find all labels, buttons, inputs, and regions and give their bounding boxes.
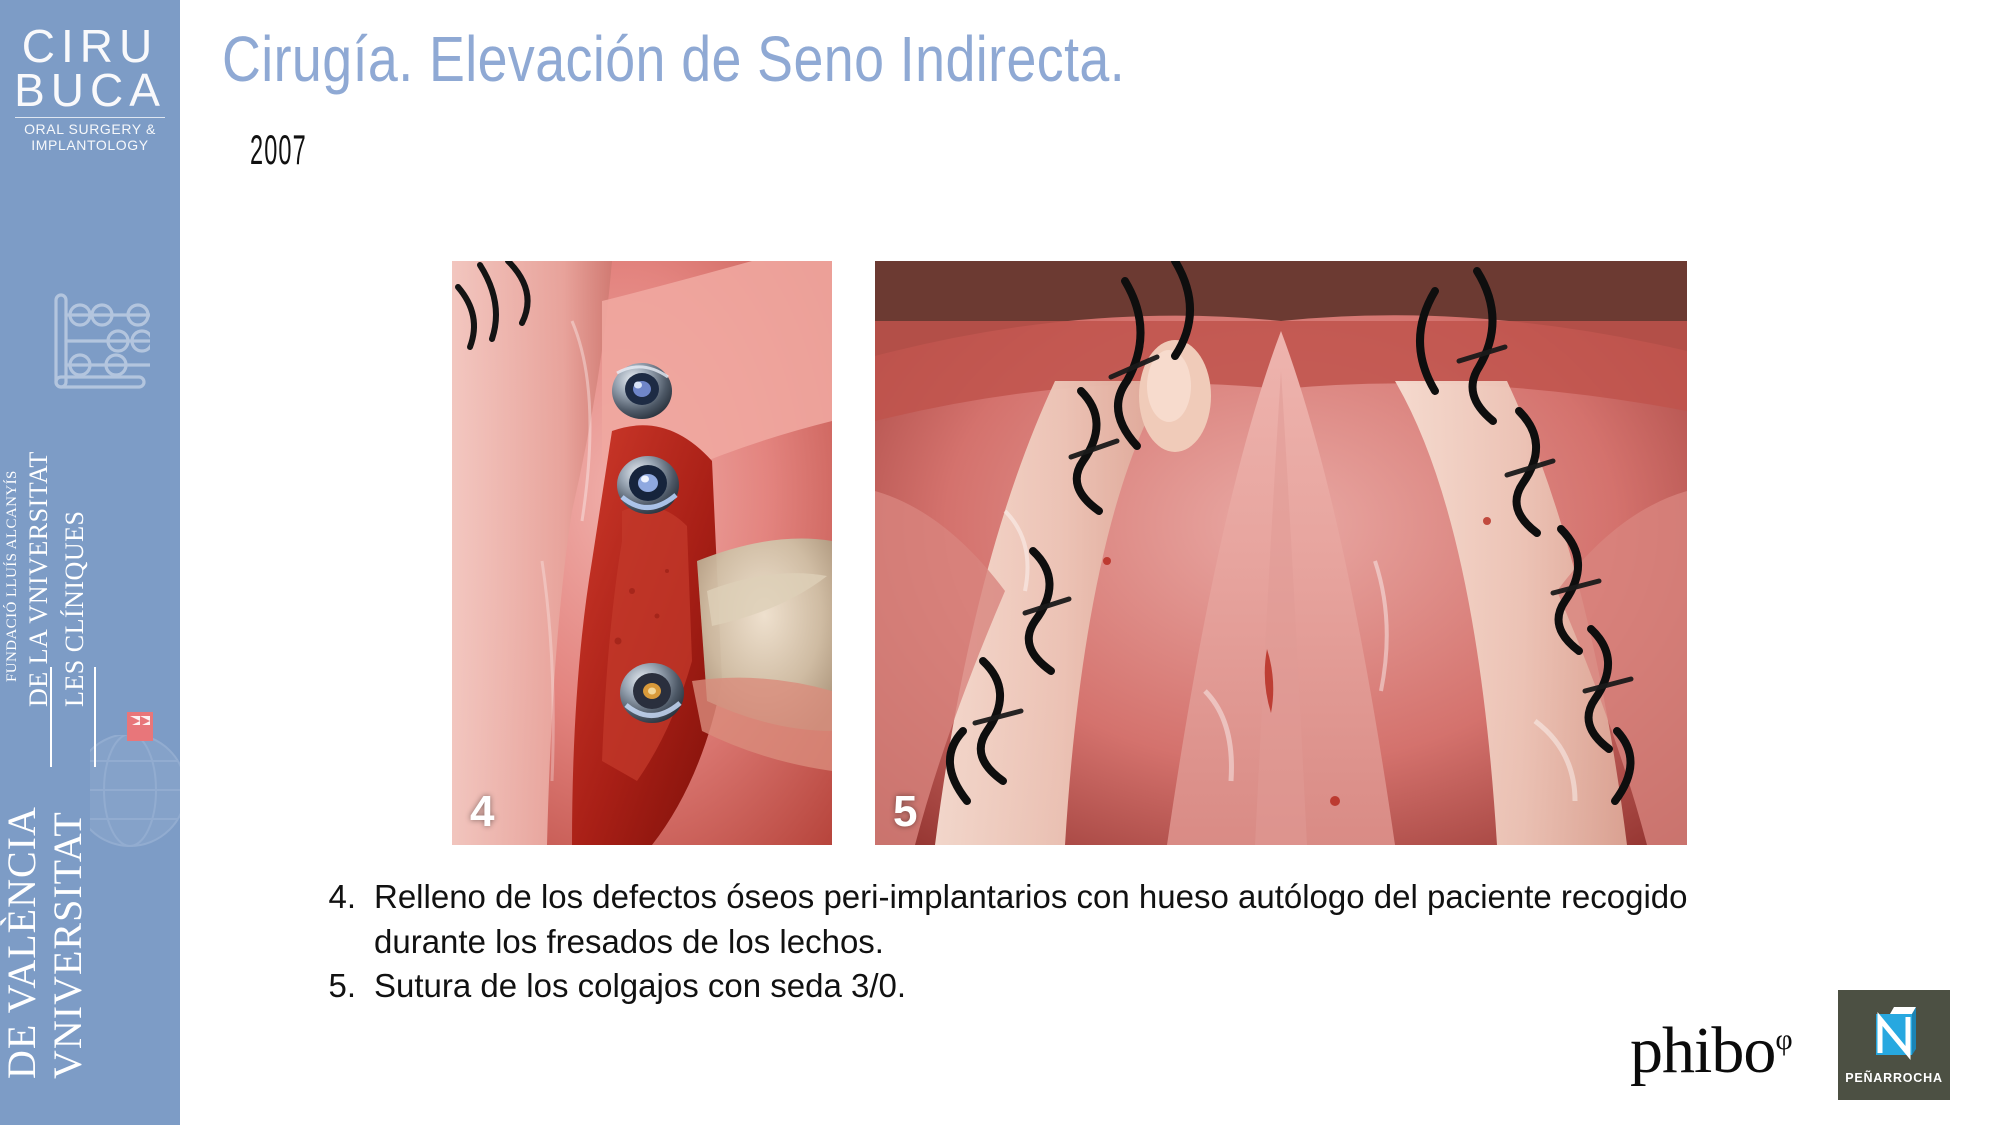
penarrocha-n-icon (1868, 1005, 1920, 1065)
photo-5-graphic (875, 261, 1687, 845)
caption-item-5: 5. Sutura de los colgajos con seda 3/0. (318, 964, 1738, 1009)
brand-line-1: CIRU (0, 24, 180, 68)
brand-line-2: BUCA (0, 68, 180, 112)
photo-label-5: 5 (893, 787, 917, 837)
photo-label-4: 4 (470, 787, 494, 837)
brand-subtitle-2: IMPLANTOLOGY (0, 138, 180, 154)
brand-divider (15, 117, 165, 118)
caption-item-4: 4. Relleno de los defectos óseos peri-im… (318, 875, 1738, 964)
clinics-line-2: DE LA VNIVERSITAT (26, 451, 52, 707)
penarrocha-label: PEÑARROCHA (1845, 1071, 1943, 1085)
clinics-line-1: LES CLÍNIQUES (62, 511, 88, 707)
phibo-logo: phiboφ (1630, 1018, 1793, 1084)
photo-4-graphic (452, 261, 832, 845)
lockup-divider-2 (94, 667, 96, 767)
caption-number-4: 4. (318, 875, 374, 920)
caption-text-4: Relleno de los defectos óseos peri-impla… (374, 875, 1738, 964)
foundation-label: FUNDACIÓ LLUÍS ALCANYÍS (5, 470, 20, 682)
sidebar: CIRU BUCA ORAL SURGERY & IMPLANTOLOGY (0, 0, 180, 1125)
caption-list: 4. Relleno de los defectos óseos peri-im… (318, 875, 1738, 1009)
clinical-photo-5: 5 (875, 261, 1687, 845)
brand-subtitle-1: ORAL SURGERY & (0, 122, 180, 138)
university-name-line-1: VNIVERSITAT (48, 811, 88, 1079)
university-name-line-2: DE VALÈNCIA (2, 806, 42, 1079)
brand-logo: CIRU BUCA ORAL SURGERY & IMPLANTOLOGY (0, 24, 180, 154)
year-label: 2007 (250, 126, 307, 174)
phibo-superscript: φ (1775, 1023, 1792, 1056)
page-title: Cirugía. Elevación de Seno Indirecta. (222, 22, 1125, 96)
university-lockup: VNIVERSITAT DE VALÈNCIA LES CLÍNIQUES DE… (0, 367, 180, 1107)
caption-text-5: Sutura de los colgajos con seda 3/0. (374, 964, 1738, 1009)
clinical-photo-4: 4 (452, 261, 832, 845)
phibo-wordmark: phibo (1630, 1014, 1775, 1087)
slide-root: CIRU BUCA ORAL SURGERY & IMPLANTOLOGY (0, 0, 2000, 1125)
caption-number-5: 5. (318, 964, 374, 1009)
penarrocha-badge: PEÑARROCHA (1838, 990, 1950, 1100)
